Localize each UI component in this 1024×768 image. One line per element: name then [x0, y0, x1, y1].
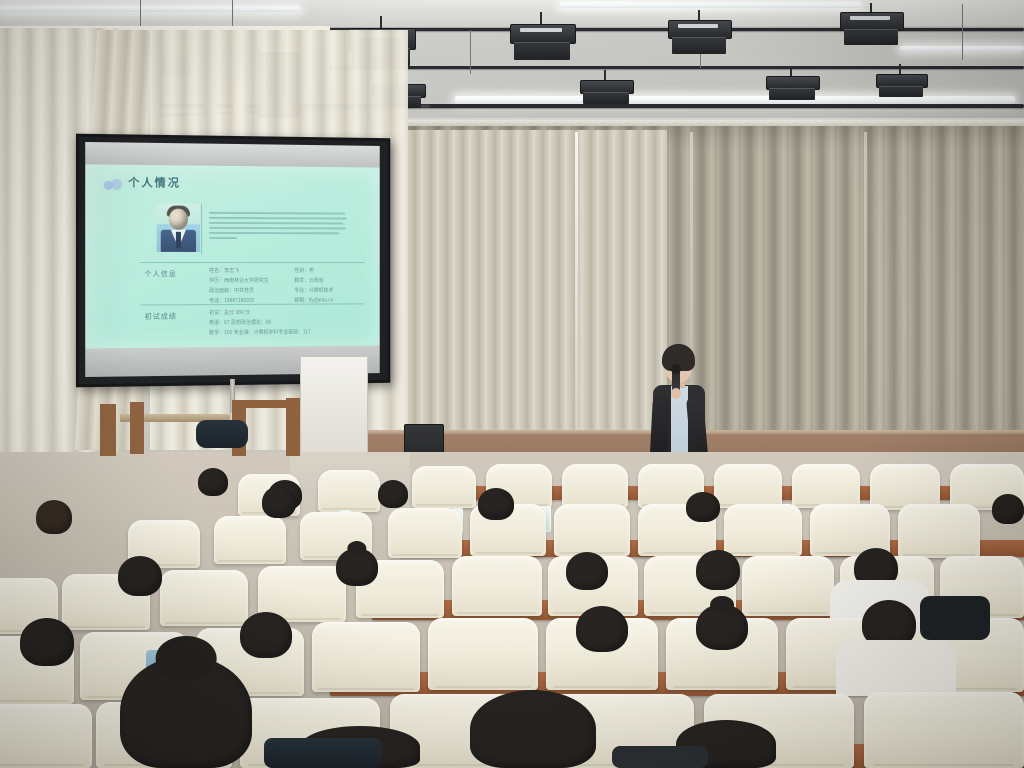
slide-intro-paragraph [209, 212, 347, 242]
seat[interactable] [742, 556, 834, 616]
slide-field: 数学：102 专业课：计算机学科专业基础：117 [209, 328, 311, 336]
slide-info-left-column: 姓名：李志飞 学历：西南林业大学研究生 政治面貌：中共党员 电话：1988718… [209, 267, 269, 307]
audience-head [262, 486, 296, 518]
slide-photo-divider [201, 204, 202, 254]
audience-head-foreground [470, 690, 596, 768]
slide-field: 籍贯：云南省 [294, 277, 333, 284]
audience-head [198, 468, 228, 496]
lecture-hall-photo: 个人情况 个人信息 姓名：李志飞 学历：西南林业大学研究生 政治面貌：中共党员 [0, 0, 1024, 768]
seat[interactable] [412, 466, 476, 508]
slide-info-right-column: 性别：男 籍贯：云南省 专业：计算机技术 邮箱：fly@edu.cn [294, 267, 333, 307]
seat[interactable] [214, 516, 286, 564]
side-door [300, 356, 368, 454]
slide-rule-1 [140, 262, 364, 263]
audience-head [696, 550, 740, 590]
slide-field: 专业：计算机技术 [294, 287, 333, 294]
slide-field: 初试：总分 380 分 [209, 309, 311, 317]
seat[interactable] [792, 464, 860, 508]
seat[interactable] [562, 464, 628, 508]
seat[interactable] [312, 622, 420, 692]
seat[interactable] [714, 464, 782, 508]
audience-shoulders [836, 640, 956, 696]
stage-curtain-left-panel [405, 130, 667, 430]
seat[interactable] [160, 570, 248, 626]
backpack [264, 738, 382, 768]
ceiling-tube-2 [560, 2, 860, 8]
audience-head [240, 612, 292, 658]
audience-head-foreground [120, 656, 252, 768]
diamond-logo-icon [104, 178, 127, 192]
slide-section-personal-info: 个人信息 [145, 269, 177, 279]
projection-screen[interactable]: 个人情况 个人信息 姓名：李志飞 学历：西南林业大学研究生 政治面貌：中共党员 [76, 134, 390, 388]
stage-light-2 [510, 24, 574, 62]
slide-score-column: 初试：总分 380 分 英语：67 思想政治理论：65 数学：102 专业课：计… [209, 309, 311, 340]
audience-head [378, 480, 408, 508]
slide-field: 姓名：李志飞 [209, 267, 269, 274]
audience-head [118, 556, 162, 596]
bag [920, 596, 990, 640]
presentation-slide: 个人情况 个人信息 姓名：李志飞 学历：西南林业大学研究生 政治面貌：中共党员 [85, 164, 380, 348]
audience-head [36, 500, 72, 534]
wooden-chair-2 [130, 402, 144, 454]
seat[interactable] [864, 692, 1024, 768]
ceiling-tube-3 [455, 96, 1015, 103]
bag [612, 746, 708, 768]
screen-top-band [85, 142, 380, 168]
seat[interactable] [452, 556, 542, 616]
slide-title: 个人情况 [128, 174, 181, 191]
ceiling-tube-1 [0, 6, 300, 12]
presenter-hand-upper [671, 388, 681, 399]
seat[interactable] [0, 704, 92, 768]
slide-field: 学历：西南林业大学研究生 [209, 277, 269, 284]
audience-head [336, 548, 378, 586]
audience-head [686, 492, 720, 522]
curtain-seam-3 [864, 132, 867, 450]
slide-field: 英语：67 思想政治理论：65 [209, 318, 311, 326]
wooden-chair-rail [246, 400, 290, 408]
seat[interactable] [428, 618, 538, 690]
audience-head [576, 606, 628, 652]
stage-light-8 [876, 74, 926, 97]
seat[interactable] [724, 504, 802, 556]
wooden-chair-1 [100, 404, 116, 456]
seat[interactable] [318, 470, 380, 512]
slide-field: 政治面貌：中共党员 [209, 287, 269, 294]
stage-light-7 [766, 76, 818, 100]
slide-field: 性别：男 [294, 267, 333, 274]
audience-head [20, 618, 74, 666]
audience-head [478, 488, 514, 520]
slide-portrait-photo [157, 203, 200, 251]
stage-light-6 [580, 80, 632, 104]
bag-on-table [196, 420, 248, 448]
audience-head [696, 604, 748, 650]
audience-head [992, 494, 1024, 524]
ceiling-wire-5 [962, 4, 963, 60]
curtain-seam-1 [575, 132, 578, 450]
stage-light-3 [668, 20, 730, 56]
slide-section-exam-score: 初试成绩 [145, 311, 177, 321]
audience-head [566, 552, 608, 590]
ceiling-wire-3 [470, 30, 471, 74]
seat[interactable] [554, 504, 630, 556]
stage-light-4 [840, 12, 902, 48]
seat[interactable] [898, 504, 980, 558]
seat[interactable] [388, 508, 462, 558]
ceiling-rail-upper [330, 66, 1024, 69]
